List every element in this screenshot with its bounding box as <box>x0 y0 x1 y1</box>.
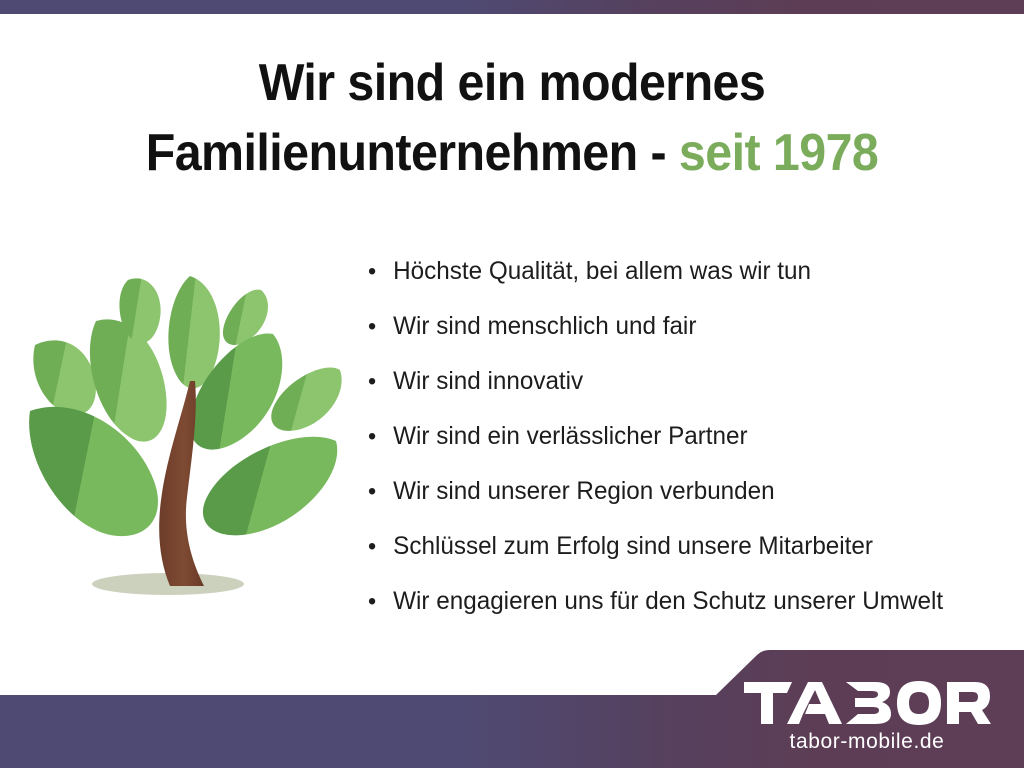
list-item-label: Wir sind innovativ <box>393 367 583 395</box>
tabor-wordmark-icon <box>742 680 992 726</box>
list-item-label: Wir sind menschlich und fair <box>393 312 696 340</box>
top-accent-bar <box>0 0 1024 14</box>
bullet-icon: • <box>368 244 376 299</box>
tree-illustration <box>18 248 348 608</box>
brand-url: tabor-mobile.de <box>732 730 1002 754</box>
page-title: Wir sind ein modernes Familienunternehme… <box>36 48 988 188</box>
bullet-icon: • <box>368 574 376 629</box>
headline-line-2: Familienunternehmen - seit 1978 <box>36 118 988 188</box>
leaf-left-upper <box>33 340 96 414</box>
list-item-label: Höchste Qualität, bei allem was wir tun <box>393 257 811 285</box>
bullet-icon: • <box>368 519 376 574</box>
list-item: • Wir sind ein verlässlicher Partner <box>366 409 997 464</box>
list-item: • Höchste Qualität, bei allem was wir tu… <box>366 244 997 299</box>
list-item-label: Wir sind unserer Region verbunden <box>393 477 774 505</box>
headline-prefix: Familienunternehmen - <box>146 124 679 182</box>
list-item-label: Wir engagieren uns für den Schutz unsere… <box>393 587 943 615</box>
list-item-label: Wir sind ein verlässlicher Partner <box>393 422 747 450</box>
leaf-lower-right <box>203 437 337 536</box>
list-item: • Wir sind menschlich und fair <box>366 299 997 354</box>
headline-line-1: Wir sind ein modernes <box>36 48 988 118</box>
bullet-icon: • <box>368 409 376 464</box>
slide-canvas: Wir sind ein modernes Familienunternehme… <box>0 0 1024 768</box>
list-item: • Schlüssel zum Erfolg sind unsere Mitar… <box>366 519 997 574</box>
bullet-icon: • <box>368 299 376 354</box>
bullet-icon: • <box>368 464 376 519</box>
list-item: • Wir sind innovativ <box>366 354 997 409</box>
list-item: • Wir sind unserer Region verbunden <box>366 464 997 519</box>
headline-accent-year: seit 1978 <box>679 124 878 182</box>
brand-logo: tabor-mobile.de <box>732 680 1002 754</box>
value-list: • Höchste Qualität, bei allem was wir tu… <box>366 244 1016 629</box>
list-item-label: Schlüssel zum Erfolg sind unsere Mitarbe… <box>393 532 873 560</box>
leaf-right-small <box>271 367 341 430</box>
bullet-icon: • <box>368 354 376 409</box>
list-item: • Wir engagieren uns für den Schutz unse… <box>366 574 997 629</box>
